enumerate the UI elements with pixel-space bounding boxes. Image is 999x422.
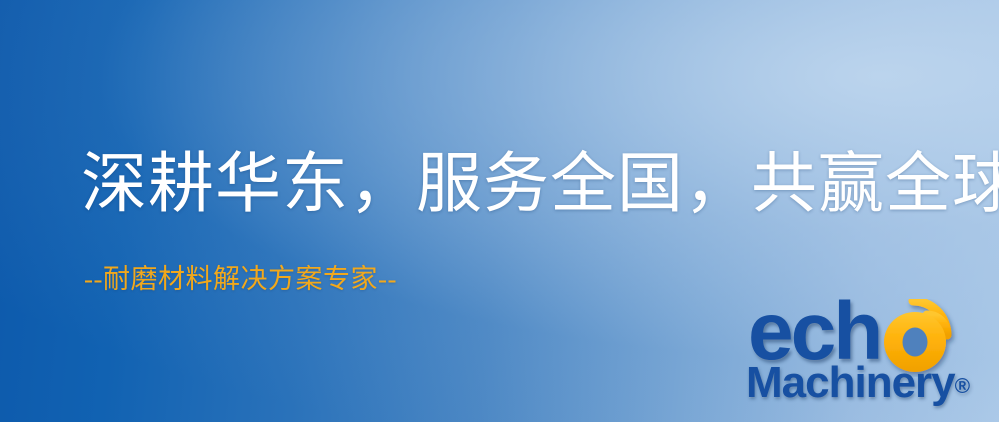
banner-headline: 深耕华东，服务全国，共赢全球	[81, 150, 999, 219]
registered-trademark-icon: ®	[955, 375, 970, 398]
hero-banner: 深耕华东，服务全国，共赢全球 --耐磨材料解决方案专家-- ech	[0, 0, 999, 422]
banner-subtitle: --耐磨材料解决方案专家--	[84, 263, 397, 295]
company-logo[interactable]: ech	[744, 297, 996, 417]
logo-brand-text: Machinery	[746, 358, 955, 407]
logo-brand-line: Machinery®	[746, 361, 970, 405]
